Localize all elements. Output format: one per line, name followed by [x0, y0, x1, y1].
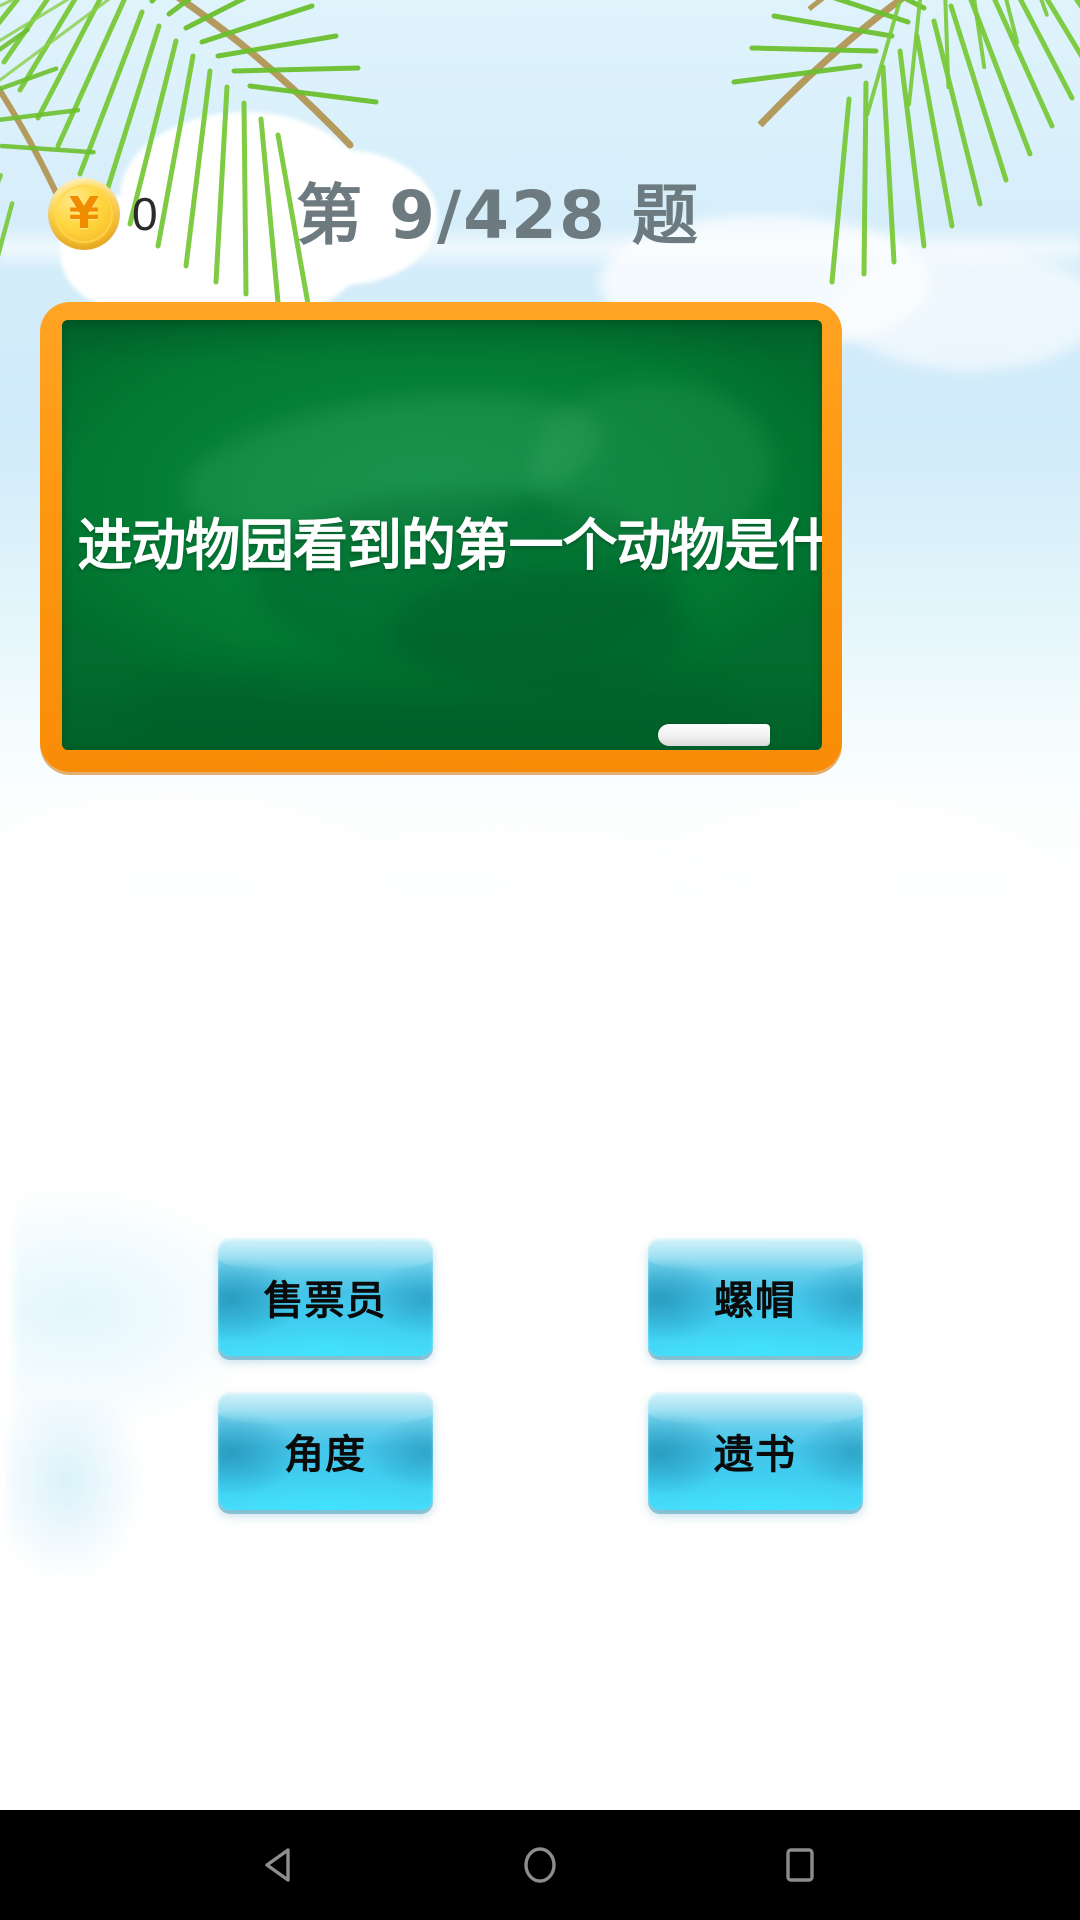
answer-label-c: 角度: [284, 1422, 366, 1480]
answer-label-d: 遗书: [714, 1422, 796, 1480]
top-hud: ¥ 0 第 9/428 题: [0, 168, 1080, 264]
answer-button-a[interactable]: 售票员: [218, 1238, 433, 1356]
question-text: 进动物园看到的第一个动物是什么？: [70, 516, 815, 579]
recents-square-icon[interactable]: [745, 1810, 855, 1920]
home-circle-icon[interactable]: [485, 1810, 595, 1920]
answer-row-2: 角度 遗书: [0, 1392, 1080, 1510]
answer-button-d[interactable]: 遗书: [648, 1392, 863, 1510]
question-counter: 第 9/428 题: [0, 162, 1038, 258]
answer-button-b[interactable]: 螺帽: [648, 1238, 863, 1356]
chalk-stick-icon: [658, 724, 770, 746]
blackboard-frame: 进动物园看到的第一个动物是什么？: [40, 302, 842, 772]
android-navbar: [0, 1810, 1080, 1920]
blackboard: 进动物园看到的第一个动物是什么？: [62, 320, 822, 750]
answer-options: 售票员 螺帽 角度 遗书: [0, 1238, 1080, 1546]
board-top-shade: [62, 320, 822, 364]
answer-button-c[interactable]: 角度: [218, 1392, 433, 1510]
answer-label-b: 螺帽: [714, 1268, 796, 1326]
back-triangle-icon[interactable]: [225, 1810, 335, 1920]
answer-row-1: 售票员 螺帽: [0, 1238, 1080, 1356]
game-screen: ¥ 0 第 9/428 题 进动物园看到的第一个动物是什么？ 售票员 螺帽: [0, 0, 1080, 1920]
yen-symbol: ¥: [69, 192, 100, 236]
answer-label-a: 售票员: [264, 1268, 387, 1326]
cloud-decoration: [640, 800, 1060, 1010]
